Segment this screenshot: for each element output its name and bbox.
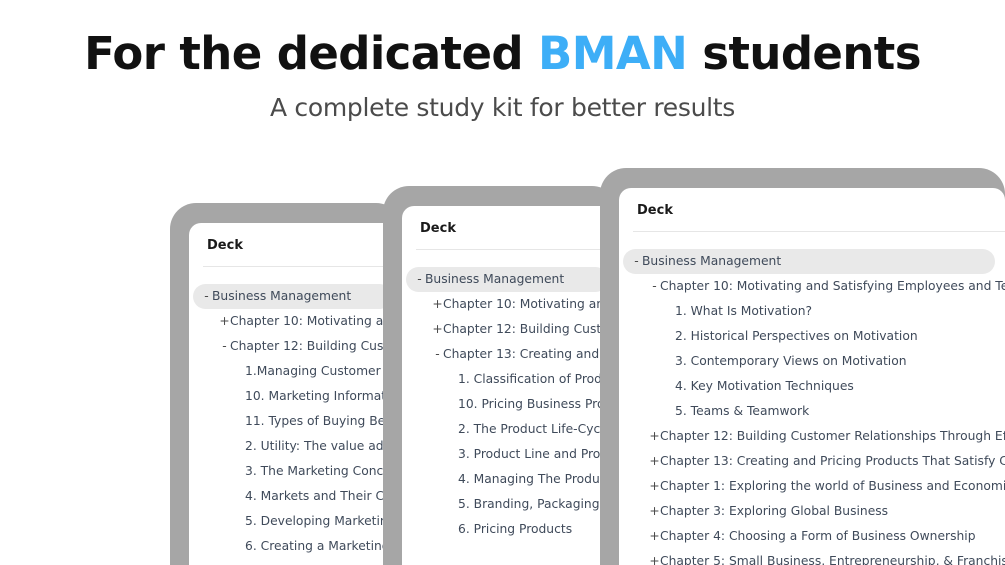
tree-row-label: 10. Pricing Business Products (458, 392, 618, 417)
tree-row-label: 5. Developing Marketing Strategies (245, 509, 402, 534)
deck-title-front: Deck (619, 188, 1005, 218)
tree-row-label: Chapter 13: Creating and Pricing Product… (660, 449, 1005, 474)
tree-row[interactable]: 2. Historical Perspectives on Motivation (619, 324, 1005, 349)
collapse-icon[interactable]: - (432, 342, 443, 367)
tree-row-label: 5. Teams & Teamwork (675, 399, 809, 424)
expand-icon[interactable]: + (649, 449, 660, 474)
tree-row-label: Chapter 12: Building Customer Relationsh… (230, 334, 402, 359)
tree-row-label: Chapter 5: Small Business, Entrepreneurs… (660, 549, 1005, 565)
tree-row[interactable]: -Business Management (406, 267, 608, 292)
deck-tree-middle: -Business Management+Chapter 10: Motivat… (402, 250, 618, 542)
tree-row-label: 6. Creating a Marketing Plan (245, 534, 402, 559)
tree-row[interactable]: 3. Product Line and Product Mix (402, 442, 618, 467)
tree-row-label: Chapter 12: Building Customer Relationsh… (660, 424, 1005, 449)
tree-row[interactable]: -Chapter 12: Building Customer Relations… (189, 334, 402, 359)
tree-row[interactable]: +Chapter 3: Exploring Global Business (619, 499, 1005, 524)
expand-icon[interactable]: + (649, 474, 660, 499)
tree-row[interactable]: 4. Markets and Their Classification (189, 484, 402, 509)
tree-row-label: Chapter 1: Exploring the world of Busine… (660, 474, 1005, 499)
tree-row-label: 5. Branding, Packaging and Labeling (458, 492, 618, 517)
expand-icon[interactable]: + (649, 524, 660, 549)
tree-row[interactable]: 1.Managing Customer Relationships (189, 359, 402, 384)
tree-row[interactable]: +Chapter 10: Motivating and Satisfying E… (189, 309, 402, 334)
tree-row[interactable]: 5. Branding, Packaging and Labeling (402, 492, 618, 517)
tree-row-label: 1. Classification of Products (458, 367, 618, 392)
tree-row[interactable]: +Chapter 13: Creating and Pricing Produc… (619, 449, 1005, 474)
tree-row[interactable]: +Chapter 12: Building Customer Relations… (619, 424, 1005, 449)
tree-row[interactable]: +Chapter 4: Choosing a Form of Business … (619, 524, 1005, 549)
deck-card-front-body: Deck -Business Management-Chapter 10: Mo… (619, 188, 1005, 565)
tree-row-label: Chapter 10: Motivating and Satisfying Em… (443, 292, 618, 317)
tree-row[interactable]: 6. Creating a Marketing Plan (189, 534, 402, 559)
tree-row[interactable]: -Chapter 10: Motivating and Satisfying E… (619, 274, 1005, 299)
tree-row[interactable]: 4. Managing The Product Mix (402, 467, 618, 492)
tree-row[interactable]: 11. Types of Buying Behaviour (189, 409, 402, 434)
collapse-icon[interactable]: - (201, 284, 212, 309)
tree-row-label: Business Management (642, 249, 781, 274)
deck-card-back-body: Deck -Business Management+Chapter 10: Mo… (189, 223, 402, 565)
expand-icon[interactable]: + (432, 292, 443, 317)
collapse-icon[interactable]: - (631, 249, 642, 274)
deck-card-middle[interactable]: Deck -Business Management+Chapter 10: Mo… (383, 186, 618, 565)
expand-icon[interactable]: + (649, 499, 660, 524)
tree-row-label: 3. Contemporary Views on Motivation (675, 349, 907, 374)
tree-row[interactable]: -Business Management (193, 284, 392, 309)
tree-row[interactable]: +Chapter 1: Exploring the world of Busin… (619, 474, 1005, 499)
tree-row[interactable]: 3. Contemporary Views on Motivation (619, 349, 1005, 374)
tree-row[interactable]: -Business Management (623, 249, 995, 274)
tree-row-label: Chapter 3: Exploring Global Business (660, 499, 888, 524)
tree-row-label: 11. Types of Buying Behaviour (245, 409, 402, 434)
tree-row[interactable]: -Chapter 13: Creating and Pricing Produc… (402, 342, 618, 367)
tree-row-label: Chapter 10: Motivating and Satisfying Em… (230, 309, 402, 334)
expand-icon[interactable]: + (219, 309, 230, 334)
collapse-icon[interactable]: - (414, 267, 425, 292)
tree-row-label: Chapter 10: Motivating and Satisfying Em… (660, 274, 1005, 299)
tree-row[interactable]: 10. Marketing Information (189, 384, 402, 409)
deck-card-middle-body: Deck -Business Management+Chapter 10: Mo… (402, 206, 618, 565)
tree-row-label: Chapter 12: Building Customer Relationsh… (443, 317, 618, 342)
tree-row-label: Chapter 13: Creating and Pricing Product… (443, 342, 618, 367)
tree-row-label: 10. Marketing Information (245, 384, 402, 409)
deck-title-back: Deck (189, 223, 402, 253)
deck-card-stack: Deck -Business Management+Chapter 10: Mo… (0, 0, 1005, 565)
tree-row-label: 3. Product Line and Product Mix (458, 442, 618, 467)
tree-row[interactable]: +Chapter 5: Small Business, Entrepreneur… (619, 549, 1005, 565)
tree-row-label: 1. What Is Motivation? (675, 299, 812, 324)
deck-tree-back: -Business Management+Chapter 10: Motivat… (189, 267, 402, 559)
tree-row[interactable]: +Chapter 12: Building Customer Relations… (402, 317, 618, 342)
tree-row-label: 4. Key Motivation Techniques (675, 374, 854, 399)
tree-row[interactable]: 2. Utility: The value added by marketing (189, 434, 402, 459)
tree-row[interactable]: 10. Pricing Business Products (402, 392, 618, 417)
tree-row-label: 2. The Product Life-Cycle (458, 417, 611, 442)
tree-row-label: 2. Utility: The value added by marketing (245, 434, 402, 459)
tree-row[interactable]: 4. Key Motivation Techniques (619, 374, 1005, 399)
tree-row[interactable]: +Chapter 10: Motivating and Satisfying E… (402, 292, 618, 317)
deck-tree-front: -Business Management-Chapter 10: Motivat… (619, 232, 1005, 565)
expand-icon[interactable]: + (432, 317, 443, 342)
tree-row-label: 1.Managing Customer Relationships (245, 359, 402, 384)
tree-row-label: Business Management (212, 284, 351, 309)
tree-row-label: 4. Markets and Their Classification (245, 484, 402, 509)
tree-row[interactable]: 6. Pricing Products (402, 517, 618, 542)
deck-card-back[interactable]: Deck -Business Management+Chapter 10: Mo… (170, 203, 402, 565)
tree-row[interactable]: 5. Developing Marketing Strategies (189, 509, 402, 534)
deck-card-front[interactable]: Deck -Business Management-Chapter 10: Mo… (600, 168, 1005, 565)
tree-row-label: Chapter 4: Choosing a Form of Business O… (660, 524, 976, 549)
tree-row-label: 4. Managing The Product Mix (458, 467, 618, 492)
collapse-icon[interactable]: - (649, 274, 660, 299)
collapse-icon[interactable]: - (219, 334, 230, 359)
tree-row[interactable]: 1. Classification of Products (402, 367, 618, 392)
tree-row-label: Business Management (425, 267, 564, 292)
tree-row[interactable]: 1. What Is Motivation? (619, 299, 1005, 324)
tree-row-label: 6. Pricing Products (458, 517, 572, 542)
expand-icon[interactable]: + (649, 424, 660, 449)
expand-icon[interactable]: + (649, 549, 660, 565)
tree-row-label: 3. The Marketing Concept (245, 459, 402, 484)
tree-row[interactable]: 2. The Product Life-Cycle (402, 417, 618, 442)
tree-row[interactable]: 3. The Marketing Concept (189, 459, 402, 484)
tree-row[interactable]: 5. Teams & Teamwork (619, 399, 1005, 424)
tree-row-label: 2. Historical Perspectives on Motivation (675, 324, 918, 349)
deck-title-middle: Deck (402, 206, 618, 236)
